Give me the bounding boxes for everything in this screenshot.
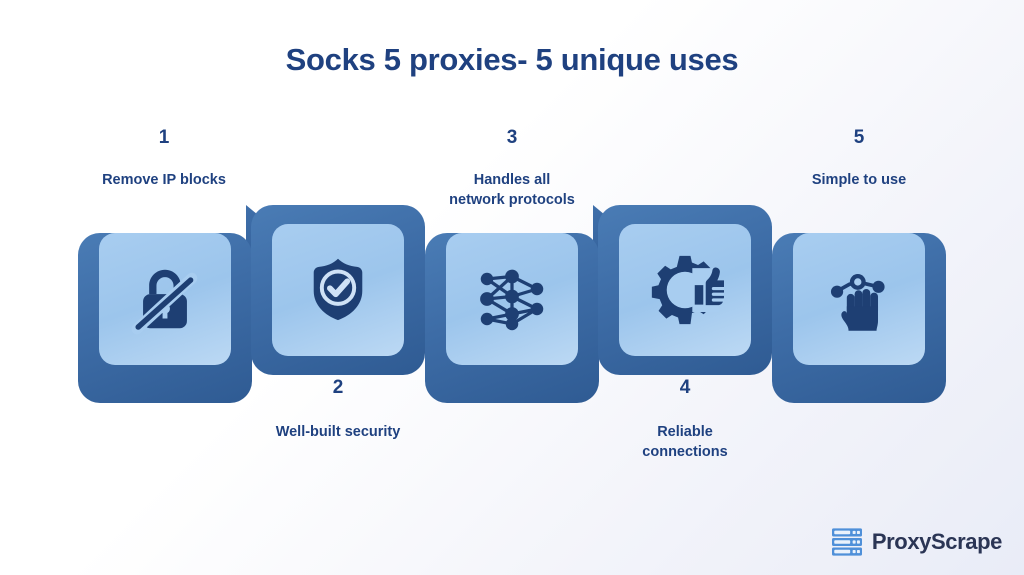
ribbon-band xyxy=(78,205,946,403)
step-tile-5 xyxy=(793,233,925,365)
hand-chart-icon xyxy=(820,260,898,338)
page-title: Socks 5 proxies- 5 unique uses xyxy=(0,42,1024,78)
step-card-2[interactable] xyxy=(251,205,425,403)
step-label-1: Remove IP blocks xyxy=(64,171,264,191)
step-label-4: Reliable connections xyxy=(585,423,785,462)
step-caption-1: 1 Remove IP blocks xyxy=(64,128,264,191)
brand-logo[interactable]: ProxyScrape xyxy=(831,527,1002,557)
step-label-3-line1: Handles all xyxy=(412,171,612,191)
step-card-3[interactable] xyxy=(425,205,599,403)
step-tile-2 xyxy=(272,224,404,356)
server-stack-icon xyxy=(831,527,863,557)
step-caption-5: 5 Simple to use xyxy=(759,128,959,191)
step-label-2: Well-built security xyxy=(238,423,438,443)
step-number-5: 5 xyxy=(759,128,959,147)
step-label-5: Simple to use xyxy=(759,171,959,191)
step-tile-1 xyxy=(99,233,231,365)
step-number-1: 1 xyxy=(64,128,264,147)
shield-check-icon xyxy=(301,253,375,327)
padlock-slash-icon xyxy=(126,260,204,338)
step-card-5[interactable] xyxy=(772,205,946,403)
step-number-3: 3 xyxy=(412,128,612,147)
gear-thumbsup-icon xyxy=(646,251,724,329)
step-label-4-line2: connections xyxy=(585,443,785,463)
step-card-4[interactable] xyxy=(598,205,772,403)
network-nodes-icon xyxy=(472,259,552,339)
step-tile-4 xyxy=(619,224,751,356)
step-label-4-line1: Reliable xyxy=(585,423,785,443)
step-tile-3 xyxy=(446,233,578,365)
step-card-1[interactable] xyxy=(78,205,252,403)
brand-name: ProxyScrape xyxy=(872,529,1002,555)
step-caption-3: 3 Handles all network protocols xyxy=(412,128,612,210)
